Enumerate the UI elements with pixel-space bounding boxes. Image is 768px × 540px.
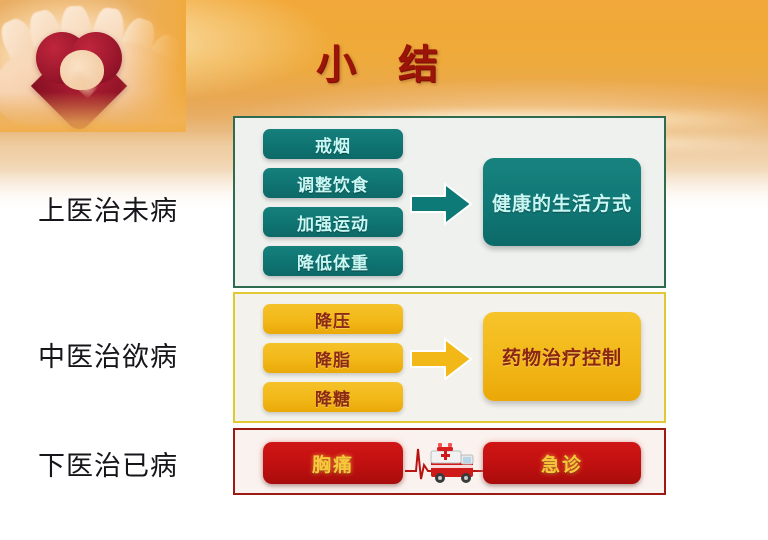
pill-item[interactable]: 戒烟: [263, 129, 403, 159]
pill-item[interactable]: 降低体重: [263, 246, 403, 276]
arrow-right-icon: [409, 181, 473, 227]
pill-item[interactable]: 降压: [263, 304, 403, 334]
panel-emergency-red: 胸痛: [233, 428, 666, 495]
slide-canvas: 小 结 上医治未病 中医治欲病 下医治已病 戒烟 调整饮食 加强运动 降低体重 …: [0, 0, 768, 540]
result-box-emergency[interactable]: 急诊: [483, 442, 641, 484]
pill-item[interactable]: 调整饮食: [263, 168, 403, 198]
page-title: 小 结: [0, 32, 768, 90]
pill-item[interactable]: 降糖: [263, 382, 403, 412]
panel-inner: 降压 降脂 降糖 药物治疗控制: [235, 294, 664, 421]
panel-prevention-teal: 戒烟 调整饮食 加强运动 降低体重 健康的生活方式: [233, 116, 666, 288]
ambulance-ecg-icon: [405, 435, 485, 491]
panel-treatment-yellow: 降压 降脂 降糖 药物治疗控制: [233, 292, 666, 423]
pill-item-chest-pain[interactable]: 胸痛: [263, 442, 403, 484]
pill-item[interactable]: 加强运动: [263, 207, 403, 237]
result-box-drug-therapy[interactable]: 药物治疗控制: [483, 312, 641, 401]
row-label-upper-medicine: 上医治未病: [38, 189, 234, 228]
photo-edge-fade-bottom: [0, 92, 186, 132]
row-label-lower-medicine: 下医治已病: [38, 444, 234, 483]
panel-inner: 戒烟 调整饮食 加强运动 降低体重 健康的生活方式: [235, 118, 664, 286]
pill-item[interactable]: 降脂: [263, 343, 403, 373]
panel-inner: 胸痛: [235, 430, 664, 493]
row-label-middle-medicine: 中医治欲病: [38, 335, 234, 374]
result-box-healthy-lifestyle[interactable]: 健康的生活方式: [483, 158, 641, 246]
arrow-right-icon: [409, 336, 473, 382]
